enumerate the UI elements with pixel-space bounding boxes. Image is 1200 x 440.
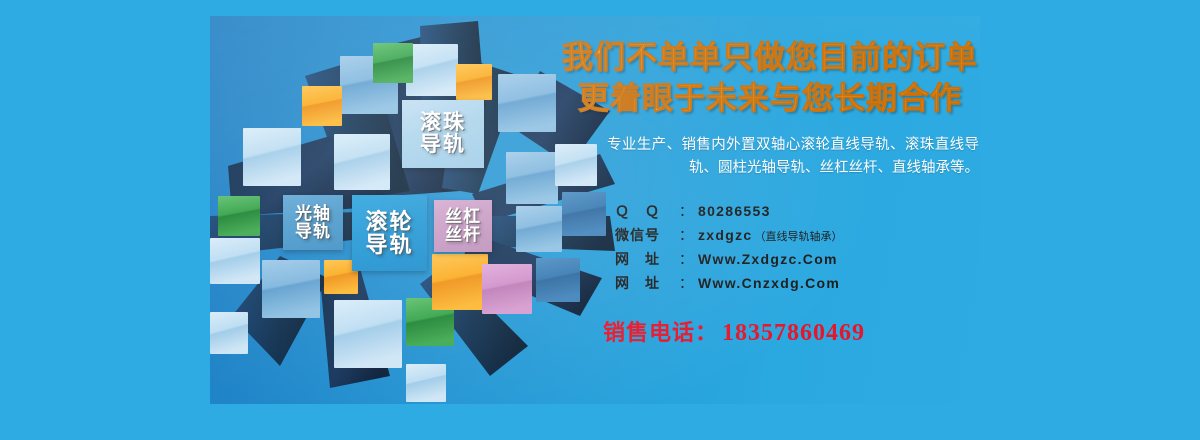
contact-row-website-1: 网 址 ： Www.Zxdgzc.Com: [615, 247, 980, 271]
contact-row-website-2: 网 址 ： Www.Cnzxdg.Com: [615, 271, 980, 295]
contact-info-block: Ｑ Ｑ ： 80286553 微信号 ： zxdgzc （直线导轨轴承） 网 址…: [555, 199, 980, 295]
product-label-roller-guide: 滚轮 导轨: [352, 195, 427, 271]
label-line-1: 丝杠: [445, 208, 481, 226]
contact-colon: ：: [679, 199, 698, 223]
banner-text-column: 我们不单单只做您目前的订单 更着眼于未来与您长期合作 专业生产、销售内外置双轴心…: [555, 38, 980, 347]
label-line-2: 导轨: [420, 134, 466, 156]
product-label-lead-screw: 丝杠 丝杆: [434, 200, 492, 252]
contact-label-website-2: 网 址: [615, 271, 679, 295]
product-label-optical-shaft-guide: 光轴 导轨: [283, 195, 343, 250]
contact-colon: ：: [679, 247, 698, 271]
banner-page: 滚珠 导轨 光轴 导轨 滚轮 导轨 丝杠 丝杆 我们不单单只做您目前的订单 更着…: [0, 0, 1200, 440]
company-description: 专业生产、销售内外置双轴心滚轮直线导轨、滚珠直线导轨、圆柱光轴导轨、丝杠丝杆、直…: [555, 134, 980, 181]
contact-colon: ：: [679, 271, 698, 295]
contact-note-wechat: （直线导轨轴承）: [752, 228, 842, 247]
label-line-1: 光轴: [295, 205, 331, 223]
promo-banner: 滚珠 导轨 光轴 导轨 滚轮 导轨 丝杠 丝杆 我们不单单只做您目前的订单 更着…: [210, 16, 980, 404]
label-line-2: 导轨: [365, 233, 413, 256]
contact-row-wechat: 微信号 ： zxdgzc （直线导轨轴承）: [615, 223, 980, 247]
sales-phone-block: 销售电话：18357860469: [555, 315, 980, 347]
label-line-1: 滚轮: [365, 210, 413, 233]
label-line-1: 滚珠: [420, 112, 466, 134]
sales-phone-label: 销售电话：: [603, 320, 718, 345]
headline-line-2: 更着眼于未来与您长期合作: [555, 79, 980, 120]
contact-label-qq: Ｑ Ｑ: [615, 199, 679, 223]
contact-label-wechat: 微信号: [615, 223, 679, 247]
label-line-2: 丝杆: [445, 226, 481, 244]
sales-phone-number[interactable]: 18357860469: [718, 320, 865, 346]
contact-row-qq: Ｑ Ｑ ： 80286553: [615, 199, 980, 223]
product-label-ball-guide: 滚珠 导轨: [402, 100, 484, 168]
label-line-2: 导轨: [295, 223, 331, 241]
contact-value-wechat[interactable]: zxdgzc: [698, 223, 752, 247]
contact-value-website-1[interactable]: Www.Zxdgzc.Com: [698, 247, 838, 271]
contact-colon: ：: [679, 223, 698, 247]
contact-label-website-1: 网 址: [615, 247, 679, 271]
contact-value-qq[interactable]: 80286553: [698, 199, 771, 223]
headline-line-1: 我们不单单只做您目前的订单: [555, 38, 980, 79]
contact-value-website-2[interactable]: Www.Cnzxdg.Com: [698, 271, 840, 295]
